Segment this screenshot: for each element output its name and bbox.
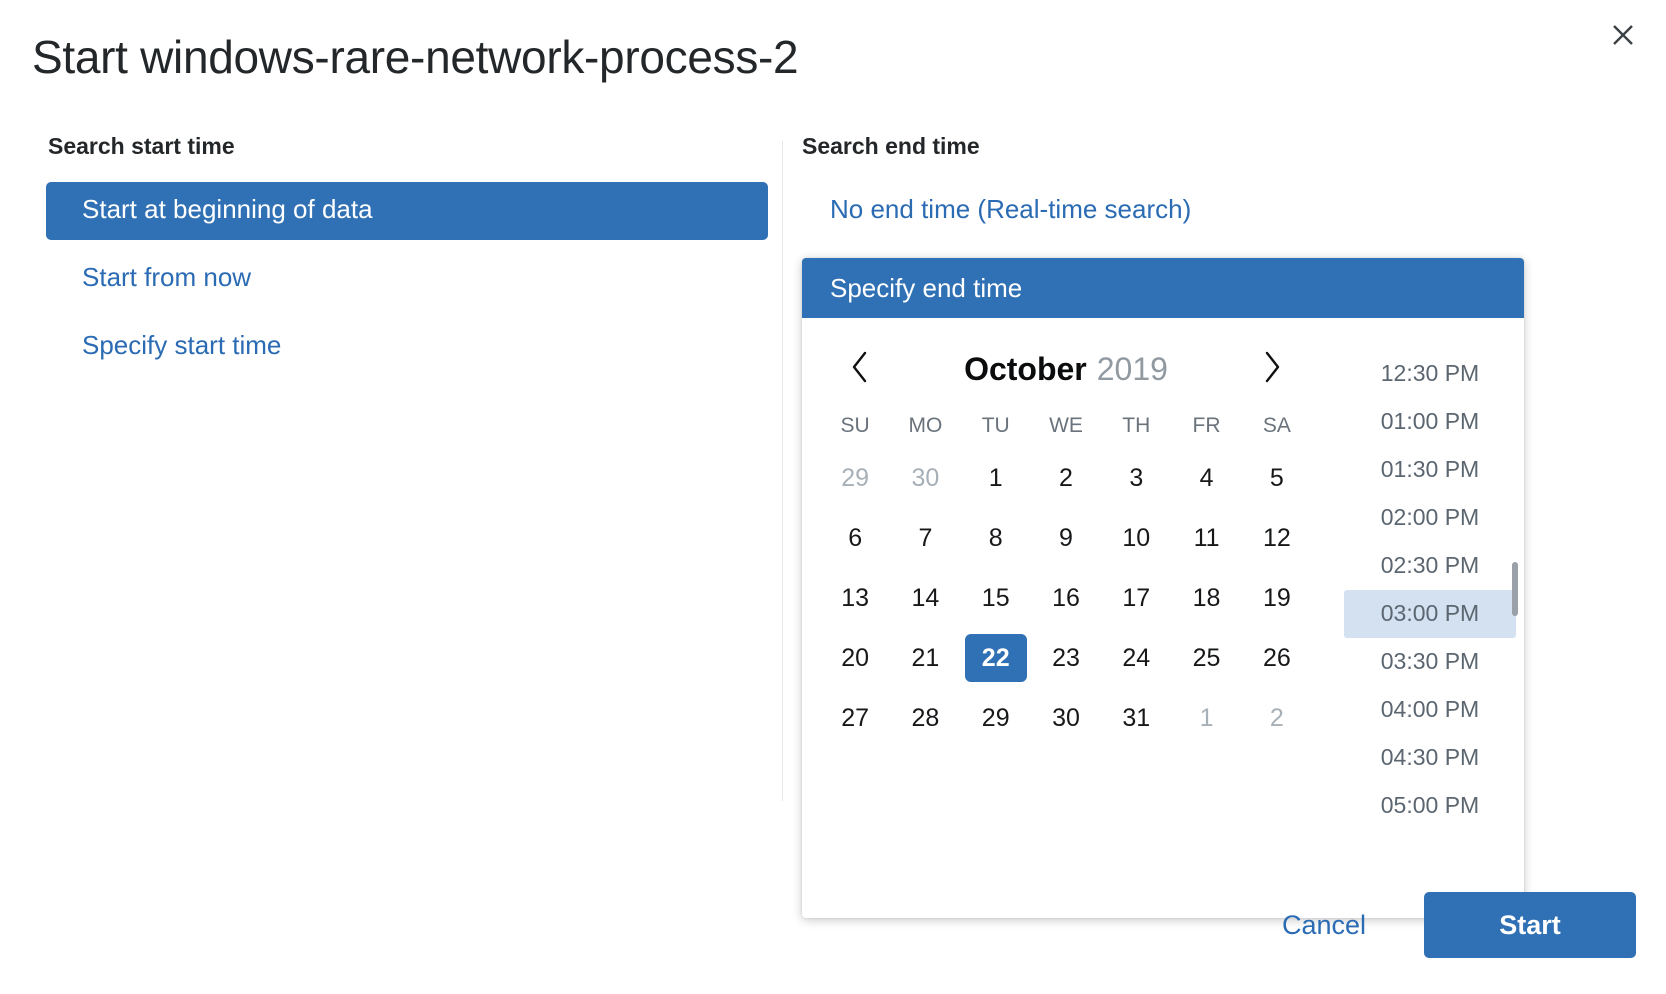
start-option-beginning-of-data[interactable]: Start at beginning of data	[46, 182, 768, 240]
calendar-day[interactable]: 27	[824, 694, 886, 742]
time-option[interactable]: 04:30 PM	[1344, 734, 1516, 782]
calendar-day[interactable]: 30	[894, 454, 956, 502]
calendar-day[interactable]: 29	[965, 694, 1027, 742]
end-time-picker-popup: Specify end time October201	[802, 258, 1524, 918]
calendar-pane: October2019	[802, 324, 1330, 918]
calendar-year-label: 2019	[1097, 351, 1168, 387]
weekday-fr: FR	[1171, 400, 1241, 448]
calendar-day[interactable]: 4	[1176, 454, 1238, 502]
calendar-week-row: 6 7 8 9 10 11 12	[820, 508, 1312, 568]
end-option-no-end-time[interactable]: No end time (Real-time search)	[800, 182, 1522, 240]
calendar-day[interactable]: 3	[1105, 454, 1167, 502]
dialog-footer: Cancel Start	[1256, 892, 1636, 958]
option-label: Start at beginning of data	[82, 194, 373, 224]
close-button[interactable]	[1602, 14, 1644, 56]
weekday-mo: MO	[890, 400, 960, 448]
calendar-week-row: 27 28 29 30 31 1 2	[820, 688, 1312, 748]
option-label: Specify start time	[82, 330, 281, 360]
calendar-day[interactable]: 2	[1035, 454, 1097, 502]
calendar-day[interactable]: 8	[965, 514, 1027, 562]
calendar-day[interactable]: 2	[1246, 694, 1308, 742]
calendar-day[interactable]: 30	[1035, 694, 1097, 742]
calendar-week-row: 20 21 22 23 24 25 26	[820, 628, 1312, 688]
prev-month-button[interactable]	[840, 349, 880, 389]
start-option-specify-start-time[interactable]: Specify start time	[46, 318, 768, 376]
close-icon	[1609, 21, 1637, 49]
option-label: No end time (Real-time search)	[830, 194, 1191, 224]
start-button[interactable]: Start	[1424, 892, 1636, 958]
time-option[interactable]: 01:00 PM	[1344, 398, 1516, 446]
calendar-day[interactable]: 19	[1246, 574, 1308, 622]
time-option-selected[interactable]: 03:00 PM	[1344, 590, 1516, 638]
calendar-week-row: 29 30 1 2 3 4 5	[820, 448, 1312, 508]
search-end-time-heading: Search end time	[802, 133, 1540, 160]
calendar-weekday-header: SU MO TU WE TH FR SA	[820, 400, 1312, 448]
calendar-month-label: October	[964, 351, 1087, 387]
calendar-day[interactable]: 28	[894, 694, 956, 742]
calendar-day[interactable]: 31	[1105, 694, 1167, 742]
calendar-day[interactable]: 7	[894, 514, 956, 562]
calendar-day[interactable]: 24	[1105, 634, 1167, 682]
calendar-grid: SU MO TU WE TH FR SA 29	[820, 400, 1312, 748]
start-search-dialog: Start windows-rare-network-process-2 Sea…	[0, 0, 1666, 994]
calendar-day[interactable]: 6	[824, 514, 886, 562]
chevron-right-icon	[1261, 350, 1283, 389]
cancel-button[interactable]: Cancel	[1256, 896, 1392, 955]
weekday-sa: SA	[1242, 400, 1312, 448]
calendar-day[interactable]: 15	[965, 574, 1027, 622]
end-option-specify-end-time[interactable]: Specify end time	[802, 258, 1524, 318]
calendar-day[interactable]: 14	[894, 574, 956, 622]
calendar-day[interactable]: 29	[824, 454, 886, 502]
calendar-day[interactable]: 12	[1246, 514, 1308, 562]
calendar-day[interactable]: 20	[824, 634, 886, 682]
calendar-day[interactable]: 5	[1246, 454, 1308, 502]
calendar-nav: October2019	[820, 338, 1312, 400]
time-option[interactable]: 03:30 PM	[1344, 638, 1516, 686]
time-option[interactable]: 12:30 PM	[1344, 350, 1516, 398]
calendar-day[interactable]: 1	[965, 454, 1027, 502]
weekday-th: TH	[1101, 400, 1171, 448]
dialog-columns: Search start time Start at beginning of …	[0, 133, 1666, 813]
date-time-picker-body: October2019	[802, 318, 1524, 918]
calendar-day[interactable]: 26	[1246, 634, 1308, 682]
next-month-button[interactable]	[1252, 349, 1292, 389]
calendar-day[interactable]: 9	[1035, 514, 1097, 562]
search-end-time-column: Search end time No end time (Real-time s…	[800, 133, 1540, 250]
calendar-week-row: 13 14 15 16 17 18 19	[820, 568, 1312, 628]
weekday-su: SU	[820, 400, 890, 448]
calendar-day[interactable]: 21	[894, 634, 956, 682]
calendar-day[interactable]: 1	[1176, 694, 1238, 742]
search-start-time-column: Search start time Start at beginning of …	[46, 133, 786, 386]
calendar-month-year: October2019	[880, 351, 1252, 388]
page-title: Start windows-rare-network-process-2	[32, 30, 798, 84]
calendar-day-selected[interactable]: 22	[965, 634, 1027, 682]
calendar-day[interactable]: 16	[1035, 574, 1097, 622]
time-option[interactable]: 04:00 PM	[1344, 686, 1516, 734]
start-option-from-now[interactable]: Start from now	[46, 250, 768, 308]
calendar-day[interactable]: 18	[1176, 574, 1238, 622]
option-label: Start from now	[82, 262, 251, 292]
time-option[interactable]: 01:30 PM	[1344, 446, 1516, 494]
time-option[interactable]: 02:30 PM	[1344, 542, 1516, 590]
weekday-we: WE	[1031, 400, 1101, 448]
time-option[interactable]: 05:00 PM	[1344, 782, 1516, 830]
weekday-tu: TU	[961, 400, 1031, 448]
calendar-day[interactable]: 23	[1035, 634, 1097, 682]
option-label: Specify end time	[830, 273, 1022, 304]
calendar-day[interactable]: 11	[1176, 514, 1238, 562]
search-start-time-heading: Search start time	[48, 133, 786, 160]
time-list: 12:30 PM 01:00 PM 01:30 PM 02:00 PM 02:3…	[1330, 350, 1524, 830]
time-picker-pane[interactable]: 12:30 PM 01:00 PM 01:30 PM 02:00 PM 02:3…	[1330, 324, 1524, 918]
calendar-day[interactable]: 17	[1105, 574, 1167, 622]
chevron-left-icon	[849, 350, 871, 389]
calendar-day[interactable]: 25	[1176, 634, 1238, 682]
calendar-day[interactable]: 10	[1105, 514, 1167, 562]
time-list-scrollbar[interactable]	[1512, 562, 1518, 616]
time-option[interactable]: 02:00 PM	[1344, 494, 1516, 542]
calendar-day[interactable]: 13	[824, 574, 886, 622]
